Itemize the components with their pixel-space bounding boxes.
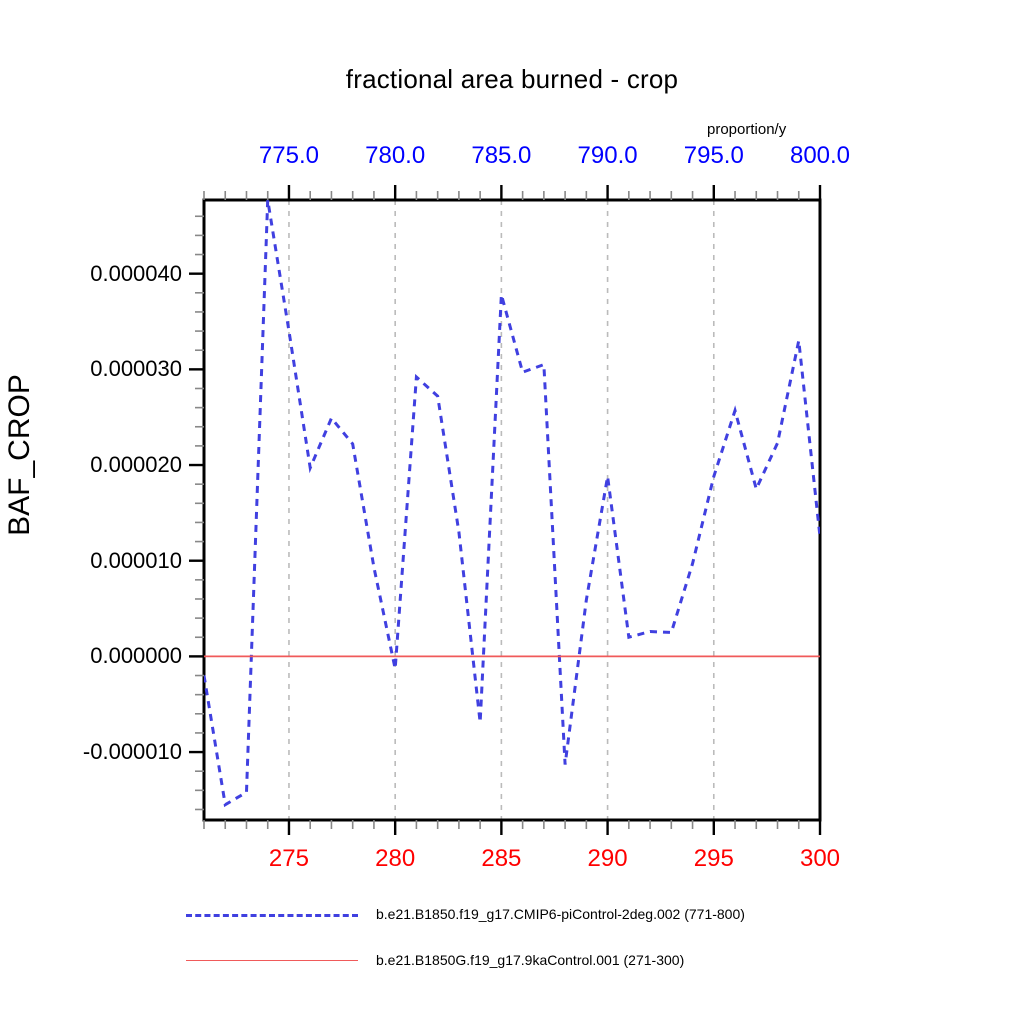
legend-label: b.e21.B1850.f19_g17.CMIP6-piControl-2deg…	[376, 906, 745, 922]
legend-line-sample	[186, 960, 358, 961]
legend: b.e21.B1850.f19_g17.CMIP6-piControl-2deg…	[0, 896, 1024, 988]
legend-item[interactable]: b.e21.B1850.f19_g17.CMIP6-piControl-2deg…	[0, 896, 1024, 942]
legend-line-sample	[186, 914, 358, 917]
plot-frame	[204, 200, 820, 820]
plot-area	[0, 0, 1024, 1024]
series-group	[204, 200, 820, 805]
legend-label: b.e21.B1850G.f19_g17.9kaControl.001 (271…	[376, 952, 684, 968]
chart-page: fractional area burned - crop proportion…	[0, 0, 1024, 1024]
legend-item[interactable]: b.e21.B1850G.f19_g17.9kaControl.001 (271…	[0, 942, 1024, 988]
series-line-1	[204, 200, 820, 805]
